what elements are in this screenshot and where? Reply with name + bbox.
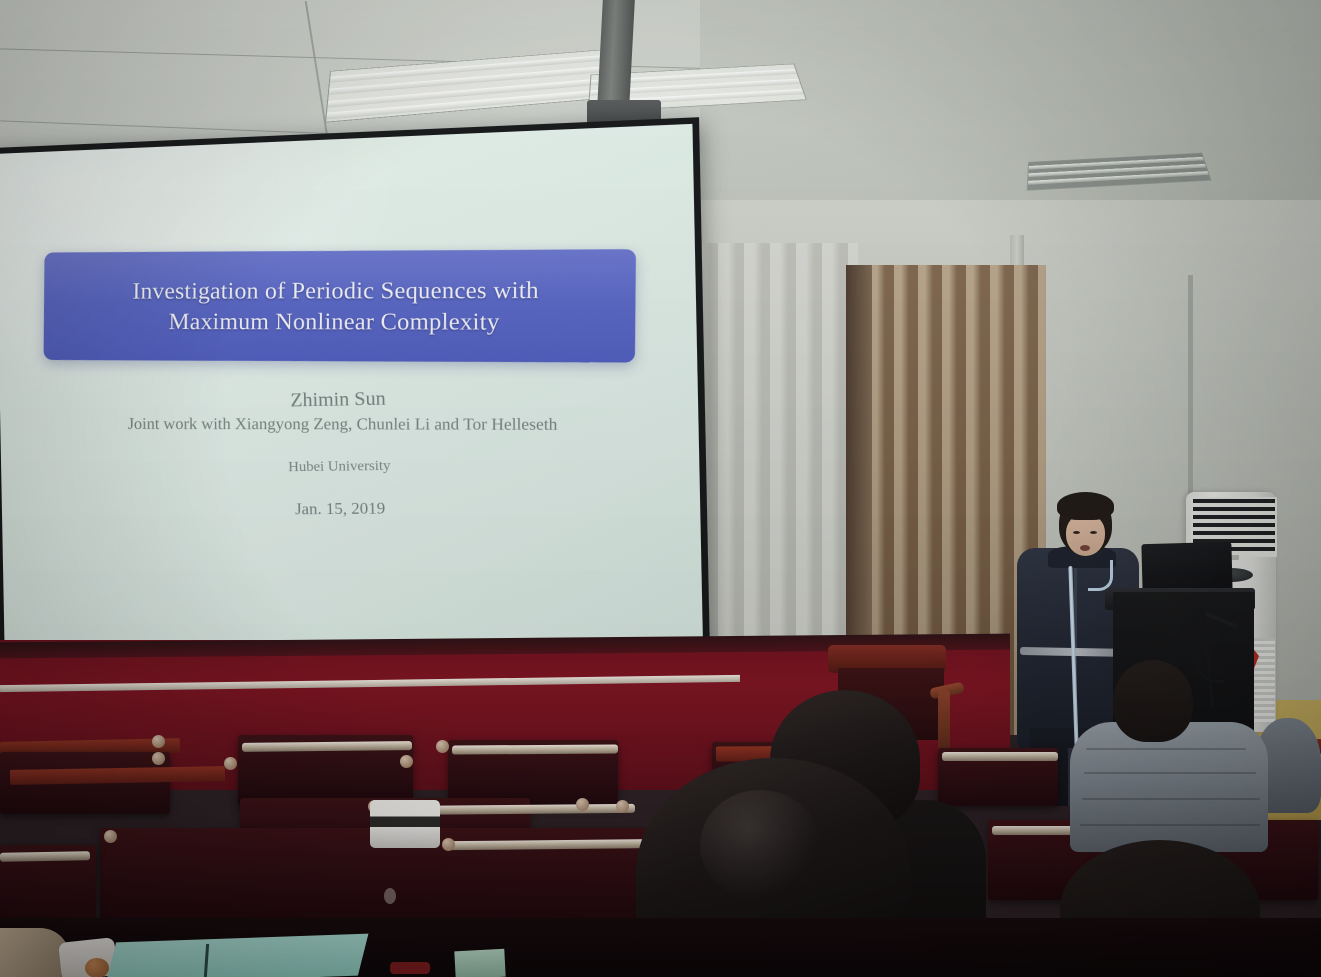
audience-member-grey-jacket-head [1113, 660, 1193, 742]
presenter-hair [1057, 492, 1114, 520]
red-item [390, 962, 430, 974]
presenter-eye-right [1090, 531, 1097, 534]
lecture-hall-photo: Investigation of Periodic Sequences with… [0, 0, 1321, 977]
audience-member-grey-jacket-body [1070, 722, 1268, 852]
slide-title-banner: Investigation of Periodic Sequences with… [44, 249, 636, 362]
bench-knob [104, 830, 117, 843]
puffer-seam [1086, 748, 1246, 750]
presenter-mouth [1080, 545, 1090, 551]
hair-highlight [700, 790, 820, 900]
bench-knob [576, 798, 589, 811]
puffer-seam [1084, 772, 1256, 774]
bench-knob [400, 755, 413, 768]
bench-knob [152, 752, 165, 765]
slide-author: Zhimin Sun [0, 382, 698, 418]
laptop-screen [1141, 542, 1232, 594]
bench-device [370, 800, 440, 848]
wall-seam [1188, 275, 1193, 505]
bench-knob [224, 757, 237, 770]
puffer-seam [1082, 798, 1260, 800]
projection-screen: Investigation of Periodic Sequences with… [0, 117, 710, 667]
slide-surface: Investigation of Periodic Sequences with… [0, 124, 703, 661]
bench-rail [242, 741, 412, 752]
orange-fruit [85, 958, 109, 977]
bench-rail [452, 744, 618, 754]
bench-knob [442, 838, 455, 851]
microphone-cable-loop [1088, 560, 1113, 591]
bench-button-icon [384, 888, 396, 904]
lectern-cable-loop [1196, 620, 1225, 683]
slide-title-line-2: Maximum Nonlinear Complexity [169, 308, 500, 334]
bench-rail [0, 851, 90, 862]
slide-date: Jan. 15, 2019 [2, 497, 701, 522]
bench-knob [436, 740, 449, 753]
chair-armrest [938, 690, 950, 752]
bench-knob [616, 800, 629, 813]
projector-mount-pole [597, 0, 635, 108]
bench-knob [152, 735, 165, 748]
slide-title-line-1: Investigation of Periodic Sequences with [132, 277, 539, 304]
slide-joint-work: Joint work with Xiangyong Zeng, Chunlei … [0, 416, 698, 436]
bench-rail [942, 752, 1058, 761]
slide-title: Investigation of Periodic Sequences with… [118, 275, 554, 337]
slide-affiliation: Hubei University [1, 454, 699, 480]
puffer-seam [1080, 824, 1260, 826]
green-item [454, 949, 505, 977]
presenter-eye-left [1073, 531, 1080, 534]
